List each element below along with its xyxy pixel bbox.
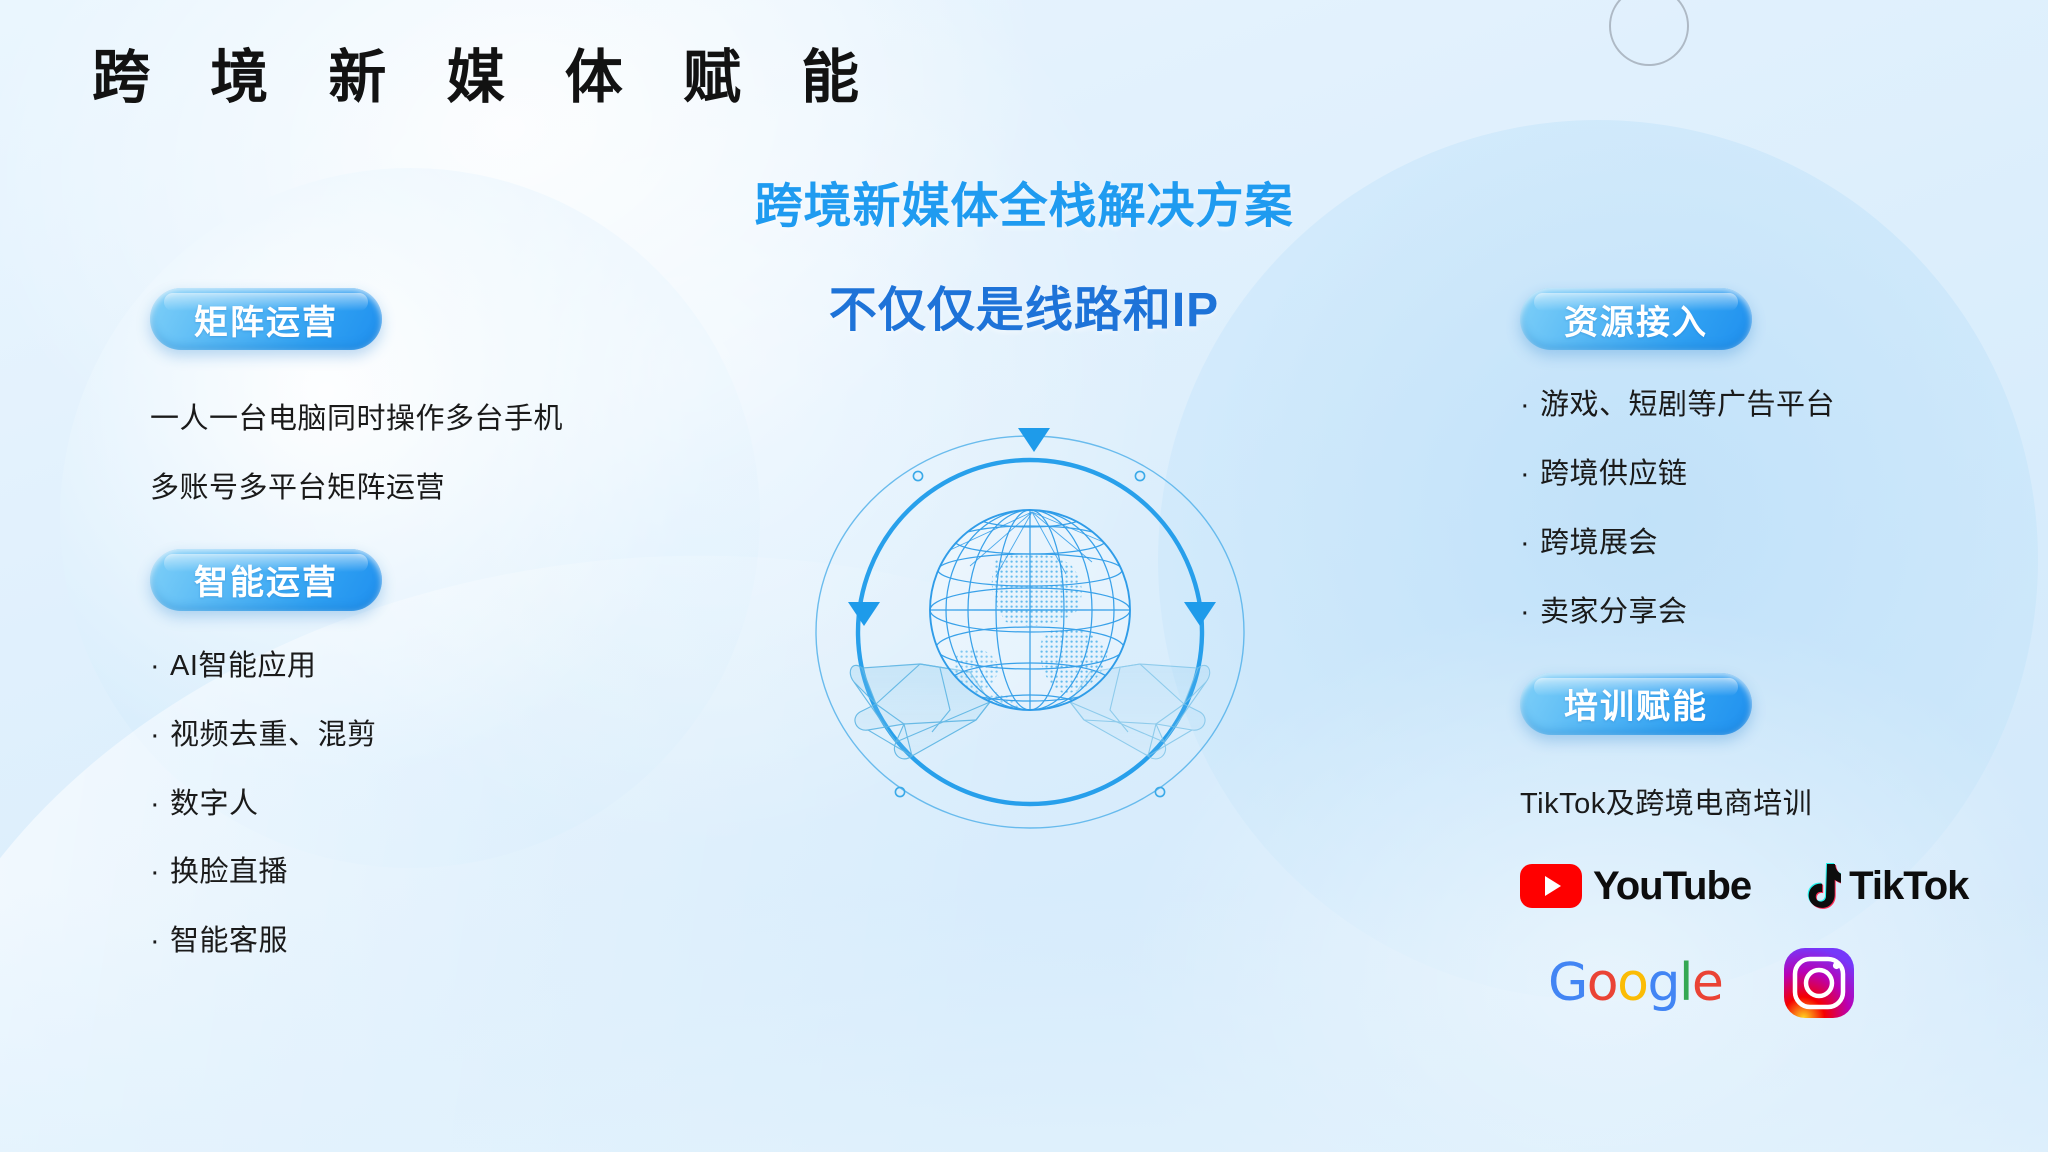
list-item: ·视频去重、混剪 [150,720,770,752]
bullet-dot-icon: · [150,789,170,821]
list-item: ·卖家分享会 [1520,597,1990,629]
list-item-label: AI智能应用 [170,650,316,682]
badge-matrix-operations[interactable]: 矩阵运营 [150,288,382,350]
list-item-label: 数字人 [170,788,259,820]
google-letter-g1: G [1548,953,1587,1013]
decorative-circle-icon [1609,0,1689,66]
bullet-dot-icon: · [1520,390,1540,422]
badge-smart-operations[interactable]: 智能运营 [150,549,382,611]
bullet-dot-icon: · [1520,459,1540,491]
globe-in-hands-illustration [800,420,1260,840]
youtube-logo-label: YouTube [1593,864,1751,909]
list-item: ·游戏、短剧等广告平台 [1520,390,1990,422]
badge-resource-access[interactable]: 资源接入 [1520,288,1752,350]
youtube-logo[interactable]: YouTube [1520,864,1751,909]
right-section2-line: TikTok及跨境电商培训 [1520,789,1990,821]
list-item-label: 跨境展会 [1540,527,1658,559]
left-section1-line-2: 多账号多平台矩阵运营 [150,473,770,505]
bullet-dot-icon: · [150,857,170,889]
bullet-dot-icon: · [150,720,170,752]
list-item-label: 换脸直播 [170,856,288,888]
list-item: ·数字人 [150,789,770,821]
badge-training-empowerment[interactable]: 培训赋能 [1520,673,1752,735]
instagram-logo[interactable] [1782,946,1856,1020]
google-letter-e: e [1692,953,1723,1013]
google-letter-g2: g [1647,953,1679,1013]
list-item: ·智能客服 [150,926,770,958]
slide-canvas: 跨 境 新 媒 体 赋 能 跨境新媒体全栈解决方案 不仅仅是线路和IP [0,0,2048,1152]
google-logo[interactable]: Google [1548,953,1722,1013]
list-item: ·换脸直播 [150,857,770,889]
list-item-label: 智能客服 [170,925,288,957]
google-letter-o2: o [1617,953,1647,1013]
bullet-dot-icon: · [1520,528,1540,560]
left-section1-line-1: 一人一台电脑同时操作多台手机 [150,404,770,436]
partner-logo-row-2: Google [1520,946,1990,1020]
list-item-label: 视频去重、混剪 [170,719,377,751]
tiktok-logo-label: TikTok [1849,864,1968,909]
list-item: ·AI智能应用 [150,651,770,683]
google-letter-l: l [1679,953,1692,1013]
tiktok-note-icon [1799,862,1841,910]
tiktok-logo[interactable]: TikTok [1799,862,1968,910]
list-item-label: 游戏、短剧等广告平台 [1540,389,1835,421]
list-item: ·跨境供应链 [1520,459,1990,491]
bullet-dot-icon: · [1520,597,1540,629]
bullet-dot-icon: · [150,926,170,958]
right-column: 资源接入 ·游戏、短剧等广告平台 ·跨境供应链 ·跨境展会 ·卖家分享会 培训赋… [1520,288,1990,1020]
google-letter-o1: o [1587,953,1617,1013]
list-item: ·跨境展会 [1520,528,1990,560]
bullet-dot-icon: · [150,651,170,683]
list-item-label: 跨境供应链 [1540,458,1688,490]
list-item-label: 卖家分享会 [1540,596,1688,628]
youtube-play-icon [1520,864,1582,908]
page-title: 跨 境 新 媒 体 赋 能 [92,48,879,106]
left-column: 矩阵运营 一人一台电脑同时操作多台手机 多账号多平台矩阵运营 智能运营 ·AI智… [150,288,770,958]
partner-logo-row-1: YouTube TikTok [1520,862,1990,910]
